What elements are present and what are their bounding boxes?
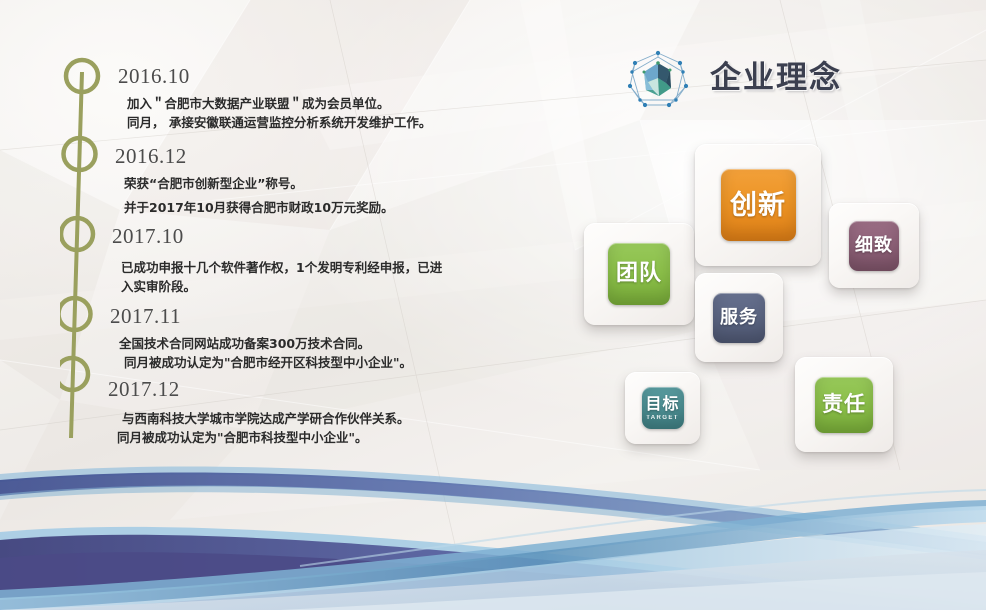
- value-card-label: 服务: [720, 309, 758, 327]
- value-card-innovation[interactable]: 创新: [695, 144, 821, 266]
- value-card-team[interactable]: 团队: [584, 223, 694, 325]
- value-card-label: 细致: [855, 237, 893, 255]
- value-card-responsibility[interactable]: 责任: [795, 357, 893, 452]
- value-card-label: 团队: [616, 263, 662, 285]
- value-card-service[interactable]: 服务: [695, 273, 783, 362]
- value-card-label: 责任: [822, 394, 866, 415]
- value-card-sublabel: TARGET: [646, 415, 679, 421]
- value-cards-cluster: 团队 创新 细致 服务 目标 TARGET 责任: [0, 0, 986, 610]
- value-card-label: 创新: [730, 192, 786, 219]
- value-card-label: 目标: [645, 396, 679, 412]
- value-card-target[interactable]: 目标 TARGET: [625, 372, 700, 444]
- poster-canvas: 2016.10 加入＂合肥市大数据产业联盟＂成为会员单位。 同月， 承接安徽联通…: [0, 0, 986, 610]
- value-card-meticulous[interactable]: 细致: [829, 203, 919, 288]
